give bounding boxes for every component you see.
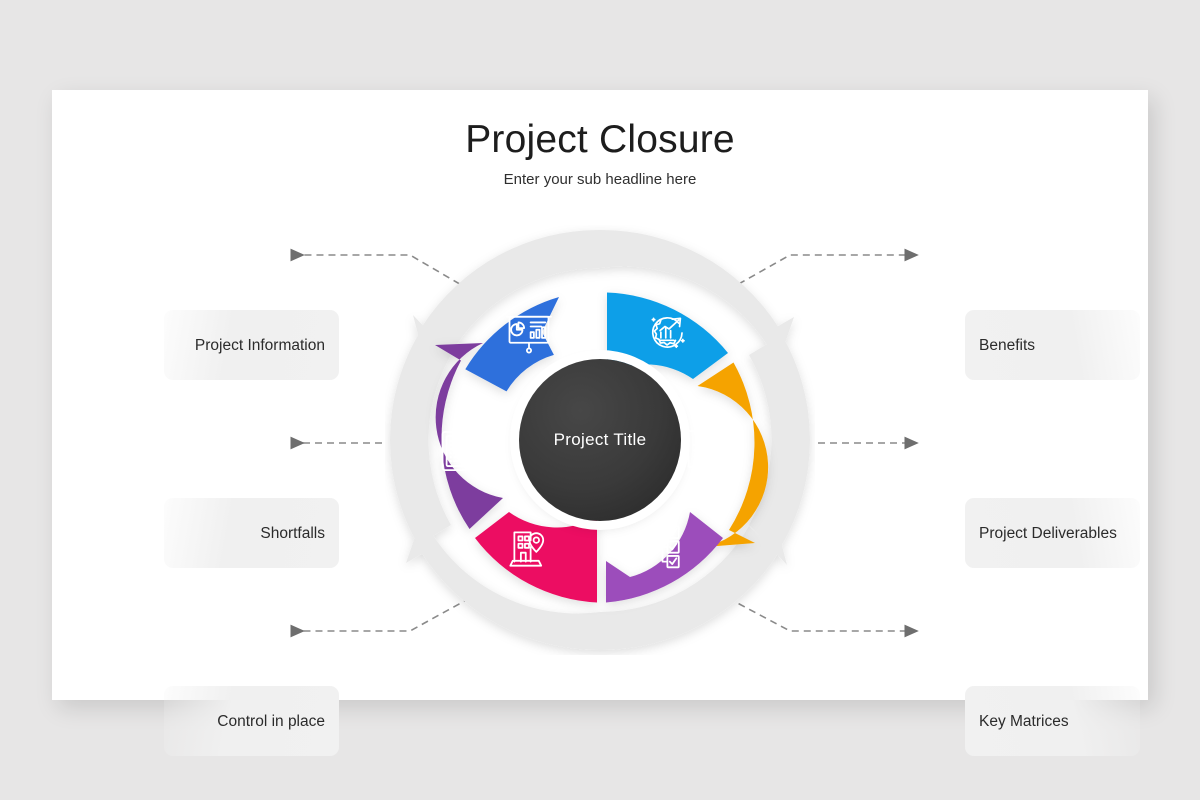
gear-checklist-icon xyxy=(630,521,682,573)
label-shortfalls[interactable]: Shortfalls xyxy=(164,498,339,568)
center-hub[interactable]: Project Title xyxy=(519,359,681,521)
label-shortfalls-text: Shortfalls xyxy=(260,523,325,544)
building-location-pin-icon xyxy=(503,521,555,573)
label-key-matrices[interactable]: Key Matrices xyxy=(965,686,1140,756)
label-project-information-text: Project Information xyxy=(195,335,325,356)
label-key-matrices-text: Key Matrices xyxy=(979,711,1069,732)
cycle-diagram: Project Title xyxy=(385,225,815,655)
label-project-information[interactable]: Project Information xyxy=(164,310,339,380)
presentation-chart-icon xyxy=(503,307,555,359)
center-hub-label: Project Title xyxy=(554,430,647,450)
label-project-deliverables[interactable]: Project Deliverables xyxy=(965,498,1140,568)
label-benefits-text: Benefits xyxy=(979,335,1035,356)
label-benefits[interactable]: Benefits xyxy=(965,310,1140,380)
label-control-in-place[interactable]: Control in place xyxy=(164,686,339,756)
gear-growth-arrow-icon xyxy=(643,307,695,359)
label-project-deliverables-text: Project Deliverables xyxy=(979,523,1117,544)
clipboard-list-icon xyxy=(432,423,484,475)
document-checklist-icon xyxy=(682,423,734,475)
label-control-in-place-text: Control in place xyxy=(217,711,325,732)
